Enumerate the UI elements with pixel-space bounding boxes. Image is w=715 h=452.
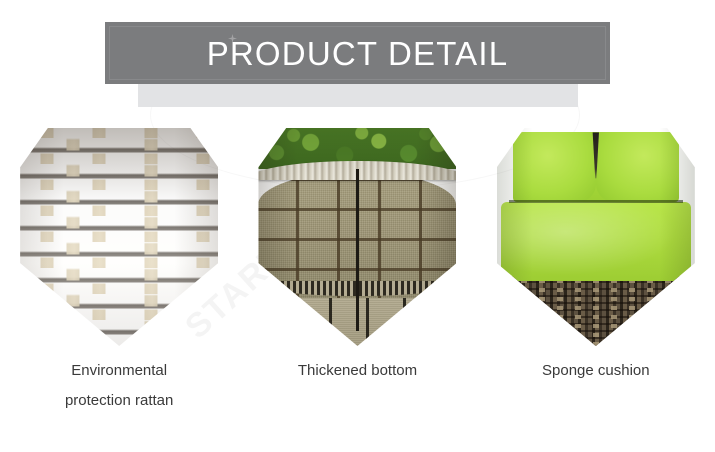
thickened-bottom-photo — [258, 128, 456, 346]
feature-caption: Thickened bottom — [238, 356, 476, 386]
feature-caption: Environmental protection rattan — [0, 356, 238, 416]
banner-shadow-bar — [138, 80, 578, 107]
right-shading-layer — [497, 128, 695, 346]
caption-line: Environmental — [0, 356, 238, 386]
page-title: PRODUCT DETAIL — [207, 37, 509, 70]
feature-grid: Environmental protection rattan — [0, 128, 715, 428]
caption-line: Thickened bottom — [238, 356, 476, 386]
feature-cell-environmental-protection-rattan: Environmental protection rattan — [0, 128, 238, 428]
feature-cell-sponge-cushion: Sponge cushion — [477, 128, 715, 428]
rattan-shading-layer — [20, 128, 218, 346]
feature-cell-thickened-bottom: Thickened bottom — [238, 128, 476, 428]
section-header-banner: PRODUCT DETAIL — [105, 22, 610, 84]
feature-caption: Sponge cushion — [477, 356, 715, 386]
rattan-weave-photo — [20, 128, 218, 346]
product-detail-page: STARTON STARTON PRODUCT DETAIL Environme… — [0, 0, 715, 452]
caption-line: Sponge cushion — [477, 356, 715, 386]
sponge-cushion-photo — [497, 128, 695, 346]
caption-line: protection rattan — [0, 386, 238, 416]
middle-shading-layer — [258, 128, 456, 346]
